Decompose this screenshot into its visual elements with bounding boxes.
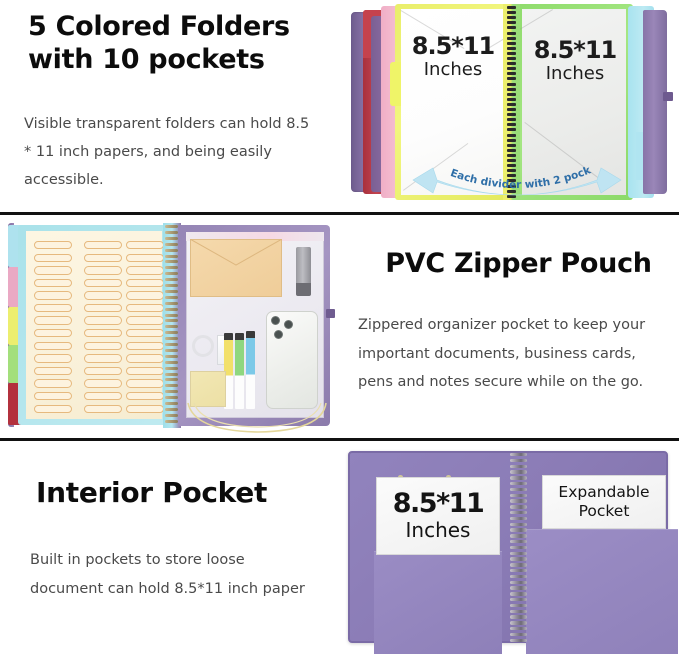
double-arrow-callout: Each divider with 2 pockets: [397, 146, 637, 200]
spiral-ring: [165, 378, 178, 381]
spiral-ring: [165, 308, 178, 311]
spiral-ring: [507, 57, 516, 60]
label-sticker: [126, 279, 164, 287]
expandable-pocket-line-2: Pocket: [543, 502, 665, 521]
spiral-ring: [165, 402, 178, 405]
camera-lens-2: [284, 320, 293, 329]
spiral-ring: [507, 37, 516, 40]
panel-2-photo: [0, 215, 340, 440]
panel-interior-pocket: Interior Pocket Built in pockets to stor…: [0, 441, 679, 654]
spiral-ring: [507, 72, 516, 75]
size-label-left: 8.5*11 Inches: [407, 34, 499, 81]
label-sticker: [34, 354, 72, 362]
sticker-column-3: [126, 241, 164, 417]
label-sticker: [34, 329, 72, 337]
panel-1-text-column: 5 Colored Folders with 10 pockets Visibl…: [0, 0, 340, 214]
label-sticker: [126, 354, 164, 362]
spiral-ring: [510, 569, 527, 572]
spiral-ring: [165, 325, 178, 328]
usb-drive-cap: [296, 283, 311, 296]
spiral-ring: [165, 243, 178, 246]
label-sticker: [34, 367, 72, 375]
panel-2-body: Zippered organizer pocket to keep your i…: [358, 311, 665, 396]
highlighter-blue: [246, 331, 255, 409]
label-sticker: [34, 279, 72, 287]
spiral-ring: [510, 557, 527, 560]
expandable-pocket-card: Expandable Pocket: [542, 475, 666, 529]
spiral-ring: [510, 586, 527, 589]
spiral-ring: [510, 465, 527, 468]
spiral-ring: [510, 639, 527, 642]
size-label-right-unit: Inches: [529, 62, 621, 85]
spiral-ring: [510, 523, 527, 526]
spiral-ring: [165, 266, 178, 269]
spiral-ring: [507, 123, 516, 126]
interior-pocket-left: [374, 551, 502, 654]
label-sticker: [34, 254, 72, 262]
spiral-ring: [507, 32, 516, 35]
tape-roll: [192, 335, 214, 357]
spiral-ring: [165, 390, 178, 393]
panel-3-title: Interior Pocket: [36, 476, 310, 510]
spiral-ring: [507, 88, 516, 91]
spiral-ring: [510, 499, 527, 502]
spiral-ring: [165, 249, 178, 252]
size-label-right-size: 8.5*11: [529, 38, 621, 62]
label-sticker: [34, 316, 72, 324]
spiral-ring: [165, 414, 178, 417]
spiral-ring: [510, 604, 527, 607]
spiral-ring: [510, 552, 527, 555]
label-sticker: [34, 266, 72, 274]
spiral-ring: [507, 118, 516, 121]
spiral-ring: [510, 592, 527, 595]
label-sticker: [84, 329, 122, 337]
spiral-ring: [510, 621, 527, 624]
spiral-ring: [510, 476, 527, 479]
spiral-ring: [507, 26, 516, 29]
size-card-left: 8.5*11 Inches: [376, 477, 500, 555]
spiral-ring: [510, 488, 527, 491]
spiral-ring: [507, 67, 516, 70]
spiral-ring: [165, 367, 178, 370]
spiral-ring: [507, 47, 516, 50]
label-sticker: [126, 266, 164, 274]
spiral-ring: [510, 470, 527, 473]
spiral-ring: [510, 494, 527, 497]
label-sticker: [84, 291, 122, 299]
spiral-ring: [165, 408, 178, 411]
spiral-ring: [510, 511, 527, 514]
spiral-ring: [165, 237, 178, 240]
spiral-ring: [165, 355, 178, 358]
spiral-ring: [510, 517, 527, 520]
size-label-right: 8.5*11 Inches: [529, 38, 621, 85]
size-card-left-size: 8.5*11: [377, 490, 499, 517]
label-sticker: [126, 316, 164, 324]
label-sticker: [34, 291, 72, 299]
label-sticker: [126, 329, 164, 337]
spiral-ring: [507, 103, 516, 106]
label-sticker: [84, 379, 122, 387]
spiral-ring: [165, 373, 178, 376]
panel-2-text-column: PVC Zipper Pouch Zippered organizer pock…: [340, 215, 679, 440]
open-notebook-illustration: [8, 223, 332, 428]
spiral-ring: [510, 627, 527, 630]
spiral-ring: [507, 21, 516, 24]
spiral-ring: [165, 290, 178, 293]
spiral-ring: [165, 331, 178, 334]
spiral-ring: [510, 633, 527, 636]
spiral-ring: [507, 77, 516, 80]
spiral-ring: [507, 62, 516, 65]
label-sticker: [34, 241, 72, 249]
panel-3-body: Built in pockets to store loose document…: [30, 546, 310, 604]
label-sticker: [126, 367, 164, 375]
notebook-spiral-coil: [165, 225, 178, 426]
spiral-ring: [507, 11, 516, 14]
camera-lens-1: [271, 316, 280, 325]
spiral-ring: [507, 93, 516, 96]
spiral-ring: [507, 42, 516, 45]
spiral-ring: [510, 528, 527, 531]
label-sticker: [84, 367, 122, 375]
spiral-ring: [510, 453, 527, 456]
spiral-ring: [165, 302, 178, 305]
label-sticker: [34, 405, 72, 413]
label-sticker: [126, 405, 164, 413]
spiral-ring: [165, 337, 178, 340]
sticker-column-1: [34, 241, 72, 417]
binder-spiral-coil: [510, 453, 527, 645]
spiral-ring: [165, 349, 178, 352]
label-sticker: [34, 392, 72, 400]
label-sticker: [84, 342, 122, 350]
panel-1-body: Visible transparent folders can hold 8.5…: [24, 110, 316, 195]
spiral-ring: [165, 361, 178, 364]
spiral-ring: [165, 272, 178, 275]
label-sticker: [84, 279, 122, 287]
panel-2-title: PVC Zipper Pouch: [372, 248, 665, 280]
expandable-pocket-line-1: Expandable: [543, 483, 665, 502]
label-sticker: [84, 266, 122, 274]
label-sticker: [84, 304, 122, 312]
spiral-ring: [510, 540, 527, 543]
binder-front-cover: [643, 10, 667, 194]
spiral-ring: [507, 139, 516, 142]
spiral-ring: [510, 534, 527, 537]
spiral-ring: [507, 134, 516, 137]
label-sticker: [34, 342, 72, 350]
panel-1-title-line-1: 5 Colored Folders: [28, 11, 290, 42]
label-sticker: [84, 241, 122, 249]
camera-lens-3: [274, 330, 283, 339]
panel-3-text-column: Interior Pocket Built in pockets to stor…: [0, 441, 330, 654]
label-sticker: [84, 392, 122, 400]
purple-binder-interior: 8.5*11 Inches Expandable Pocket: [348, 451, 668, 643]
panel-pvc-zipper-pouch: PVC Zipper Pouch Zippered organizer pock…: [0, 215, 679, 440]
spiral-ring: [510, 459, 527, 462]
spiral-ring: [165, 384, 178, 387]
size-card-left-unit: Inches: [377, 517, 499, 543]
panel-1-title-line-2: with 10 pockets: [28, 44, 265, 75]
label-sticker: [34, 304, 72, 312]
spiral-ring: [165, 278, 178, 281]
spiral-ring: [165, 314, 178, 317]
spiral-ring: [507, 6, 516, 9]
spiral-ring: [510, 581, 527, 584]
product-infographic: 5 Colored Folders with 10 pockets Visibl…: [0, 0, 679, 654]
spiral-ring: [510, 563, 527, 566]
label-sticker: [126, 342, 164, 350]
label-sticker: [126, 254, 164, 262]
spiral-ring: [165, 343, 178, 346]
envelope-flap: [190, 239, 282, 267]
spiral-ring: [510, 615, 527, 618]
spiral-ring: [165, 296, 178, 299]
spiral-ring: [507, 98, 516, 101]
label-sticker: [84, 354, 122, 362]
notebook-closure-tab: [326, 309, 335, 318]
spiral-ring: [507, 83, 516, 86]
size-label-left-unit: Inches: [407, 58, 499, 81]
label-sticker: [126, 304, 164, 312]
label-sticker: [126, 379, 164, 387]
spiral-ring: [510, 610, 527, 613]
panel-3-photo: 8.5*11 Inches Expandable Pocket: [330, 441, 679, 654]
label-sticker: [126, 392, 164, 400]
panel-1-photo: 8.5*11 Inches 8.5*11 Inches Each divider: [340, 0, 679, 214]
label-sticker: [126, 291, 164, 299]
phone-camera-cluster: [271, 316, 297, 342]
sticker-column-2: [84, 241, 122, 417]
spiral-ring: [507, 128, 516, 131]
spiral-ring: [165, 260, 178, 263]
spiral-ring: [165, 225, 178, 228]
label-sticker: [126, 241, 164, 249]
panel-1-title: 5 Colored Folders with 10 pockets: [28, 11, 316, 77]
spiral-ring: [165, 284, 178, 287]
label-sticker: [84, 316, 122, 324]
panel-colored-folders: 5 Colored Folders with 10 pockets Visibl…: [0, 0, 679, 214]
spiral-ring: [165, 255, 178, 258]
interior-pocket-right: [526, 529, 678, 654]
label-sticker: [84, 405, 122, 413]
size-label-left-size: 8.5*11: [407, 34, 499, 58]
label-sticker: [34, 379, 72, 387]
spiral-ring: [165, 396, 178, 399]
spiral-ring: [510, 575, 527, 578]
label-sticker: [84, 254, 122, 262]
elastic-closure-tab: [663, 92, 673, 101]
spiral-ring: [510, 482, 527, 485]
highlighter-green: [235, 333, 244, 409]
spiral-ring: [165, 420, 178, 423]
spiral-ring: [165, 231, 178, 234]
spiral-ring: [507, 16, 516, 19]
spiral-ring: [510, 598, 527, 601]
spiral-ring: [510, 505, 527, 508]
spiral-ring: [507, 113, 516, 116]
spiral-ring: [510, 546, 527, 549]
spiral-ring: [165, 319, 178, 322]
zipper-pull-cord: [184, 401, 330, 435]
spiral-ring: [507, 52, 516, 55]
spiral-ring: [507, 108, 516, 111]
open-binder-illustration: 8.5*11 Inches 8.5*11 Inches Each divider: [347, 4, 669, 201]
